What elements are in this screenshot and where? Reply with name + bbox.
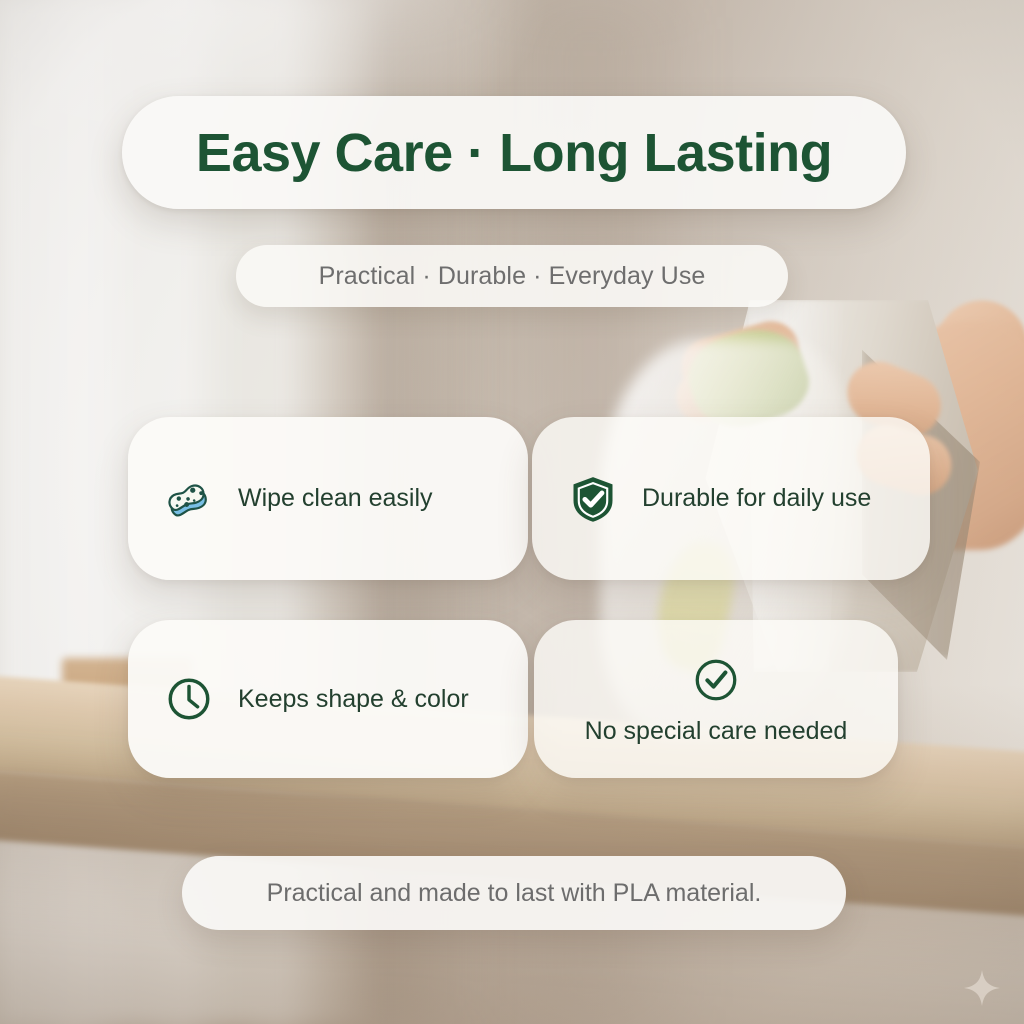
feature-card-keeps-shape[interactable]: Keeps shape & color xyxy=(128,620,528,778)
feature-card-wipe-clean[interactable]: Wipe clean easily xyxy=(128,417,528,580)
promo-graphic: Easy Care · Long Lasting Practical · Dur… xyxy=(0,0,1024,1024)
clock-icon xyxy=(162,672,216,726)
page-subtitle: Practical · Durable · Everyday Use xyxy=(319,262,706,291)
feature-label: Durable for daily use xyxy=(642,484,871,513)
footer-text: Practical and made to last with PLA mate… xyxy=(267,879,762,908)
feature-label: Keeps shape & color xyxy=(238,685,469,714)
check-circle-icon xyxy=(689,653,743,707)
feature-card-durable[interactable]: Durable for daily use xyxy=(532,417,930,580)
feature-card-no-special-care[interactable]: No special care needed xyxy=(534,620,898,778)
subtitle-pill: Practical · Durable · Everyday Use xyxy=(236,245,788,307)
feature-label: Wipe clean easily xyxy=(238,484,433,513)
title-pill: Easy Care · Long Lasting xyxy=(122,96,906,209)
feature-label: No special care needed xyxy=(585,717,848,746)
page-title: Easy Care · Long Lasting xyxy=(196,122,832,184)
shield-check-icon xyxy=(566,472,620,526)
sponge-icon xyxy=(162,472,216,526)
footer-pill: Practical and made to last with PLA mate… xyxy=(182,856,846,930)
sparkle-icon xyxy=(962,968,1002,1008)
